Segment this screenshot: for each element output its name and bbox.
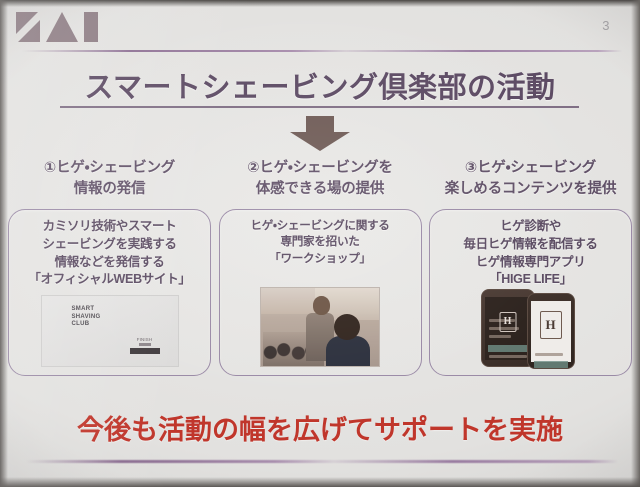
card-1-line-3: 情報などを発信する [15,254,204,272]
app-screenshots: H H [475,287,587,367]
card-1-line-2: シェービングを実践する [15,236,204,254]
card-1-line-4: 「オフィシャルWEBサイト」 [15,271,204,289]
header-divider [22,50,622,52]
activity-column-2: ②ヒゲ・シェービングを 体感できる場の提供 ヒゲ・シェービングに関する 専門家を… [219,158,422,408]
column-3-heading-line2: 楽しめるコンテンツを提供 [429,179,632,200]
website-badge-bar [139,343,151,346]
column-2-heading-line2: 体感できる場の提供 [219,179,422,200]
website-screenshot: SMART SHAVING CLUB FINISH [41,295,179,367]
card-1-line-1: カミソリ技術やスマート [15,218,204,236]
activity-column-3: ③ヒゲ・シェービング 楽しめるコンテンツを提供 ヒゲ診断や 毎日ヒゲ情報を配信す… [429,158,632,408]
card-3-line-3: ヒゲ情報専門アプリ [436,254,625,272]
app-logo-back: H [499,312,516,332]
page-title: スマートシェービング倶楽部の活動 [0,64,640,106]
card-2-text: ヒゲ・シェービングに関する 専門家を招いた 「ワークショップ」 [220,210,421,267]
title-underline [60,106,579,108]
website-logo-line-3: CLUB [72,321,101,329]
presentation-slide: 3 スマートシェービング倶楽部の活動 ①ヒゲ・シェービング 情報の発信 カミソリ… [0,0,640,487]
column-1-heading: ①ヒゲ・シェービング 情報の発信 [8,158,211,200]
column-3-heading-line1: ③ヒゲ・シェービング [465,160,596,176]
card-2-line-3: 「ワークショップ」 [226,251,415,267]
summary-banner: 今後も活動の幅を広げてサポートを実施 [0,408,640,447]
page-number: 3 [602,18,610,33]
website-badge-block [130,348,160,354]
card-1-text: カミソリ技術やスマート シェービングを実践する 情報などを発信する 「オフィシャ… [9,210,210,289]
photo-client-head [334,314,360,340]
phone-back-screen: H [485,297,531,360]
column-1-heading-line1: ①ヒゲ・シェービング [44,160,175,176]
card-3-line-2: 毎日ヒゲ情報を配信する [436,236,625,254]
column-1-heading-line2: 情報の発信 [8,179,211,200]
card-3-text: ヒゲ診断や 毎日ヒゲ情報を配信する ヒゲ情報専門アプリ 「HIGE LIFE」 [430,210,631,289]
website-logo-line-1: SMART [72,306,101,314]
activity-columns: ①ヒゲ・シェービング 情報の発信 カミソリ技術やスマート シェービングを実践する… [8,158,632,408]
website-logo-text: SMART SHAVING CLUB [72,306,101,329]
phone-back-line-3 [489,335,511,338]
website-logo-line-2: SHAVING [72,314,101,322]
activity-card-1: カミソリ技術やスマート シェービングを実践する 情報などを発信する 「オフィシャ… [8,209,211,376]
phone-front-screen: H [531,301,571,362]
card-1-media: SMART SHAVING CLUB FINISH [9,295,210,367]
photo-presenter-head [313,296,330,315]
app-logo-front: H [540,311,562,339]
phone-back-line-4 [489,355,527,358]
website-badge-label: FINISH [130,337,160,342]
phone-mock-front: H [527,293,575,369]
phone-front-line-1 [535,353,563,356]
phone-front-strip [534,361,568,368]
phone-back-strip [488,345,528,352]
photo-client-body [326,336,370,366]
website-badge: FINISH [130,337,160,354]
kai-logo [16,12,100,42]
column-3-heading: ③ヒゲ・シェービング 楽しめるコンテンツを提供 [429,158,632,200]
card-2-line-1: ヒゲ・シェービングに関する [226,218,415,234]
workshop-photo [260,287,380,367]
card-2-media [220,287,421,367]
slide-edge-bottom [0,477,640,487]
activity-card-2: ヒゲ・シェービングに関する 専門家を招いた 「ワークショップ」 [219,209,422,376]
down-arrow-icon [288,116,352,152]
card-2-line-2: 専門家を招いた [226,234,415,250]
column-2-heading: ②ヒゲ・シェービングを 体感できる場の提供 [219,158,422,200]
activity-card-3: ヒゲ診断や 毎日ヒゲ情報を配信する ヒゲ情報専門アプリ 「HIGE LIFE」 [429,209,632,376]
card-3-media: H H [430,287,631,367]
card-3-line-1: ヒゲ診断や [436,218,625,236]
activity-column-1: ①ヒゲ・シェービング 情報の発信 カミソリ技術やスマート シェービングを実践する… [8,158,211,408]
footer-divider [26,460,618,463]
slide-edge-top [0,0,640,7]
column-2-heading-line1: ②ヒゲ・シェービングを [247,160,393,176]
